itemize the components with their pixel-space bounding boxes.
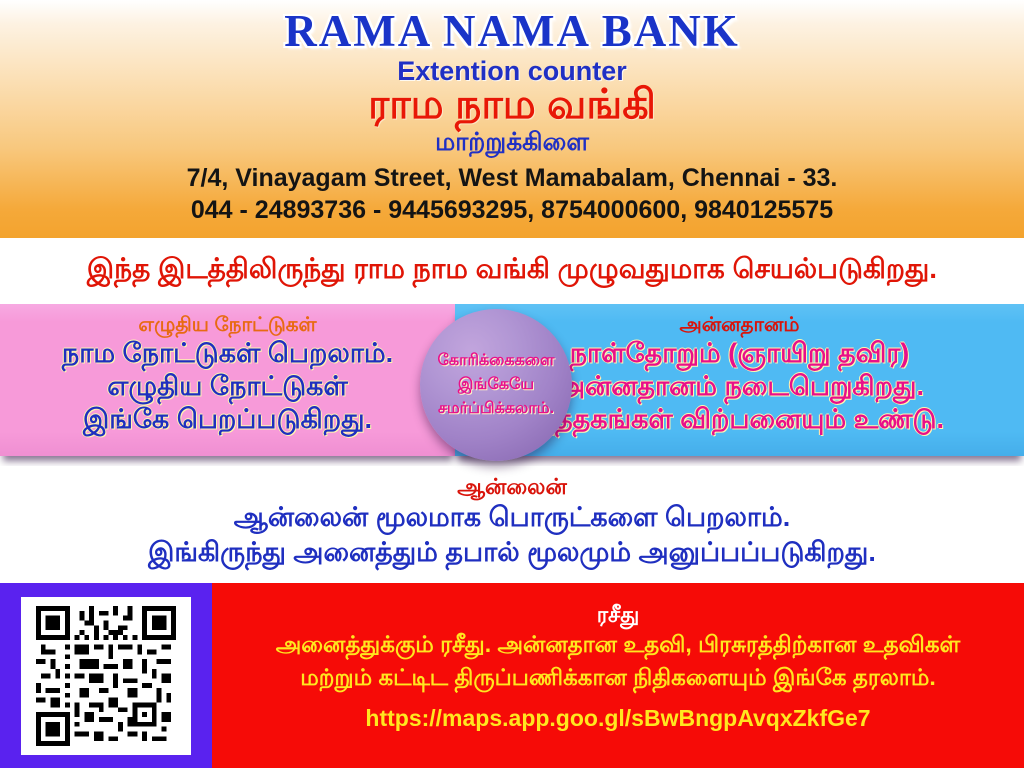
panel-pink-heading: எழுதிய நோட்டுகள்	[0, 304, 455, 337]
qr-code-panel	[0, 583, 212, 768]
poster-canvas: RAMA NAMA BANK Extention counter ராம நாம…	[0, 0, 1024, 768]
address-line: 7/4, Vinayagam Street, West Mamabalam, C…	[0, 157, 1024, 195]
panel-written-notebooks: எழுதிய நோட்டுகள் நாம நோட்டுகள் பெறலாம். …	[0, 304, 455, 456]
circle-line-2: இங்கேயே	[458, 373, 534, 397]
online-line-1: ஆன்லைன் மூலமாக பொருட்களை பெறலாம்.	[0, 500, 1024, 535]
phone-numbers-line: 044 - 24893736 - 9445693295, 8754000600,…	[0, 194, 1024, 227]
bank-title-tamil: ராம நாம வங்கி	[0, 82, 1024, 128]
announcement-text: இந்த இடத்திலிருந்து ராம நாம வங்கி முழுவத…	[87, 253, 937, 289]
bank-subtitle-tamil: மாற்றுக்கிளை	[0, 128, 1024, 157]
qr-code-icon[interactable]	[36, 606, 176, 746]
panel-pink-line-3: இங்கே பெறப்படுகிறது.	[0, 403, 455, 436]
circle-line-3: சமர்ப்பிக்கலாம்.	[438, 397, 554, 421]
qr-code-card	[21, 597, 191, 755]
panel-pink-line-1: நாம நோட்டுகள் பெறலாம்.	[0, 337, 455, 370]
receipt-line-1: அனைத்துக்கும் ரசீது. அன்னதான உதவி, பிரசு…	[212, 628, 1024, 661]
receipt-line-2: மற்றும் கட்டிட திருப்பணிக்கான நிதிகளையும…	[212, 661, 1024, 694]
receipt-heading: ரசீது	[212, 583, 1024, 628]
announcement-banner: இந்த இடத்திலிருந்து ராம நாம வங்கி முழுவத…	[0, 238, 1024, 304]
online-heading: ஆன்லைன்	[0, 466, 1024, 500]
circle-line-1: கோரிக்கைகளை	[438, 349, 555, 373]
requests-circle-badge: கோரிக்கைகளை இங்கேயே சமர்ப்பிக்கலாம்.	[420, 309, 572, 461]
receipt-text-block: ரசீது அனைத்துக்கும் ரசீது. அன்னதான உதவி,…	[212, 583, 1024, 768]
online-line-2: இங்கிருந்து அனைத்தும் தபால் மூலமும் அனுப…	[0, 535, 1024, 570]
panel-pink-line-2: எழுதிய நோட்டுகள்	[0, 370, 455, 403]
map-url-link[interactable]: https://maps.app.goo.gl/sBwBngpAvqxZkfGe…	[212, 694, 1024, 733]
bank-title-english: RAMA NAMA BANK	[0, 0, 1024, 56]
poster-header: RAMA NAMA BANK Extention counter ராம நாம…	[0, 0, 1024, 238]
receipt-section: ரசீது அனைத்துக்கும் ரசீது. அன்னதான உதவி,…	[0, 583, 1024, 768]
online-section: ஆன்லைன் ஆன்லைன் மூலமாக பொருட்களை பெறலாம்…	[0, 466, 1024, 583]
